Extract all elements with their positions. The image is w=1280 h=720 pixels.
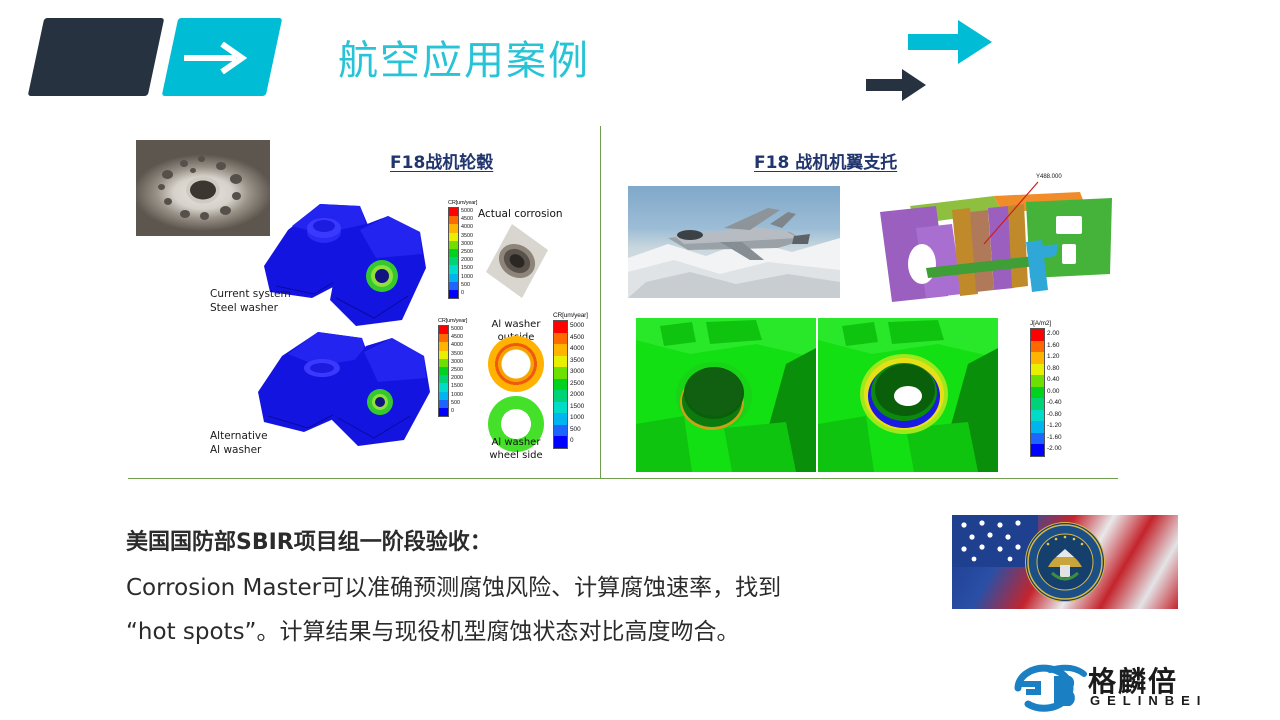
legend-value: 1000 bbox=[570, 412, 584, 424]
legend-value-list: 5000450040003500300025002000150010005000 bbox=[461, 207, 473, 299]
legend-value: 3500 bbox=[461, 232, 473, 240]
legend-value: -1.60 bbox=[1047, 432, 1062, 444]
arrow-right-icon bbox=[182, 42, 252, 74]
legend-value: 500 bbox=[451, 399, 463, 407]
label-washer-wheel-line2: wheel side bbox=[471, 449, 561, 462]
body-line-2: “hot spots”。计算结果与现役机型腐蚀状态对比高度吻合。 bbox=[126, 612, 739, 646]
annotation-leader-line bbox=[866, 178, 1116, 306]
legend-color-swatch bbox=[439, 375, 448, 383]
legend-value: 4500 bbox=[570, 332, 584, 344]
legend-value: 2000 bbox=[461, 256, 473, 264]
legend-color-swatch bbox=[439, 342, 448, 350]
label-alternative-line2: Al washer bbox=[210, 444, 268, 458]
fem-wheel-segment-4 bbox=[318, 336, 448, 452]
legend-value-list: 5000450040003500300025002000150010005000 bbox=[451, 325, 463, 417]
legend-value: 0.80 bbox=[1047, 363, 1062, 375]
legend-color-bars bbox=[1030, 328, 1045, 457]
legend-color-swatch bbox=[554, 413, 567, 425]
legend-value: 2500 bbox=[451, 366, 463, 374]
legend-value: 1000 bbox=[451, 391, 463, 399]
legend-value: -0.80 bbox=[1047, 409, 1062, 421]
label-washer-outside-line1: Al washer bbox=[471, 318, 561, 331]
label-current-system-line2: Steel washer bbox=[210, 302, 291, 316]
legend-value: -1.20 bbox=[1047, 420, 1062, 432]
legend-value: -2.00 bbox=[1047, 443, 1062, 455]
legend-value: 5000 bbox=[570, 320, 584, 332]
legend-color-swatch bbox=[1031, 410, 1044, 422]
annotation-label: Y488.000 bbox=[1036, 174, 1062, 180]
legend-color-swatch bbox=[554, 367, 567, 379]
legend-value: 1500 bbox=[451, 382, 463, 390]
fea-render-right bbox=[818, 318, 998, 477]
legend-color-swatch bbox=[554, 390, 567, 402]
corroded-hub-photo bbox=[136, 140, 270, 236]
legend-value: 0 bbox=[451, 407, 463, 415]
legend-color-swatch bbox=[1031, 375, 1044, 387]
legend-color-swatch bbox=[449, 265, 458, 273]
legend-value: 4000 bbox=[570, 343, 584, 355]
legend-value: 3000 bbox=[461, 240, 473, 248]
body-heading: 美国国防部SBIR项目组一阶段验收： bbox=[126, 524, 492, 556]
legend-color-swatch bbox=[554, 344, 567, 356]
legend-value: 2500 bbox=[570, 378, 584, 390]
washer-outside-contour bbox=[488, 336, 544, 392]
legend-value: 3000 bbox=[451, 358, 463, 366]
panel-divider bbox=[600, 126, 601, 478]
legend-value: 5000 bbox=[451, 325, 463, 333]
legend-color-bars bbox=[553, 320, 568, 449]
legend-value: 4500 bbox=[461, 215, 473, 223]
legend-color-swatch bbox=[1031, 329, 1044, 341]
legend-color-swatch bbox=[554, 436, 567, 448]
dod-seal-image bbox=[952, 515, 1178, 609]
decor-arrow-right-dark-icon bbox=[866, 66, 928, 104]
legend-color-bars bbox=[438, 325, 449, 417]
legend-value: 2500 bbox=[461, 248, 473, 256]
dod-seal-emblem bbox=[1025, 522, 1105, 602]
legend-color-swatch bbox=[439, 400, 448, 408]
legend-value: 3500 bbox=[570, 355, 584, 367]
legend-color-bars bbox=[448, 207, 459, 299]
actual-corrosion-photo bbox=[482, 222, 552, 300]
legend-value: 500 bbox=[570, 424, 584, 436]
color-legend-cr-top: CR[um/year] 5000450040003500300025002000… bbox=[448, 200, 477, 299]
fem-wheel-segment-2 bbox=[316, 214, 444, 334]
legend-color-swatch bbox=[1031, 387, 1044, 399]
legend-color-swatch bbox=[449, 233, 458, 241]
right-panel-title: F18 战机机翼支托 bbox=[754, 148, 897, 173]
legend-color-swatch bbox=[1031, 433, 1044, 445]
legend-color-swatch bbox=[554, 425, 567, 437]
legend-color-swatch bbox=[439, 367, 448, 375]
legend-color-swatch bbox=[449, 216, 458, 224]
legend-value: 3500 bbox=[451, 350, 463, 358]
label-washer-wheel-line1: Al washer bbox=[471, 436, 561, 449]
label-al-washer-wheel-side: Al washer wheel side bbox=[471, 436, 561, 462]
legend-color-swatch bbox=[449, 282, 458, 290]
legend-color-swatch bbox=[449, 249, 458, 257]
fea-render-left bbox=[636, 318, 816, 477]
label-alternative-line1: Alternative bbox=[210, 430, 268, 444]
legend-color-swatch bbox=[439, 326, 448, 334]
legend-value: 1000 bbox=[461, 273, 473, 281]
legend-color-swatch bbox=[1031, 398, 1044, 410]
legend-color-swatch bbox=[554, 321, 567, 333]
legend-value: 2000 bbox=[570, 389, 584, 401]
actual-corrosion-label: Actual corrosion bbox=[478, 208, 563, 220]
legend-value: 0.40 bbox=[1047, 374, 1062, 386]
legend-color-swatch bbox=[554, 333, 567, 345]
legend-color-swatch bbox=[439, 334, 448, 342]
legend-value: 4000 bbox=[451, 341, 463, 349]
legend-value: 1.60 bbox=[1047, 340, 1062, 352]
legend-value: 2000 bbox=[451, 374, 463, 382]
legend-title: J[A/m2] bbox=[1030, 320, 1062, 327]
page-title: 航空应用案例 bbox=[338, 28, 590, 86]
legend-color-swatch bbox=[554, 356, 567, 368]
legend-value-list: 2.001.601.200.800.400.00-0.40-0.80-1.20-… bbox=[1047, 328, 1062, 457]
legend-color-swatch bbox=[439, 351, 448, 359]
brand-logo-english: GELINBEI bbox=[1090, 693, 1207, 708]
legend-value: 1500 bbox=[570, 401, 584, 413]
legend-value: 4000 bbox=[461, 223, 473, 231]
legend-value: 500 bbox=[461, 281, 473, 289]
label-current-system-line1: Current system bbox=[210, 288, 291, 302]
legend-value: 1500 bbox=[461, 264, 473, 272]
legend-color-swatch bbox=[449, 208, 458, 216]
legend-color-swatch bbox=[1031, 341, 1044, 353]
legend-color-swatch bbox=[1031, 444, 1044, 456]
left-panel-title: F18战机轮毂 bbox=[390, 148, 493, 173]
legend-color-swatch bbox=[449, 274, 458, 282]
legend-title: CR[um/year] bbox=[553, 312, 588, 319]
color-legend-cr-right: CR[um/year] 5000450040003500300025002000… bbox=[553, 312, 588, 449]
legend-color-swatch bbox=[439, 359, 448, 367]
legend-value: 0 bbox=[461, 289, 473, 297]
color-legend-current-density: J[A/m2] 2.001.601.200.800.400.00-0.40-0.… bbox=[1030, 320, 1062, 457]
legend-value: 5000 bbox=[461, 207, 473, 215]
legend-value: 3000 bbox=[570, 366, 584, 378]
legend-value: 0.00 bbox=[1047, 386, 1062, 398]
legend-title: CR[um/year] bbox=[438, 318, 467, 324]
decor-arrow-right-cyan-icon bbox=[908, 16, 994, 68]
legend-color-swatch bbox=[449, 224, 458, 232]
legend-color-swatch bbox=[1031, 421, 1044, 433]
legend-value: 1.20 bbox=[1047, 351, 1062, 363]
legend-value: 4500 bbox=[451, 333, 463, 341]
legend-value-list: 5000450040003500300025002000150010005000 bbox=[570, 320, 584, 449]
legend-color-swatch bbox=[449, 241, 458, 249]
label-current-system: Current system Steel washer bbox=[210, 288, 291, 316]
legend-value: 2.00 bbox=[1047, 328, 1062, 340]
legend-color-swatch bbox=[439, 383, 448, 391]
f18-jet-photo bbox=[628, 186, 840, 298]
legend-color-swatch bbox=[1031, 364, 1044, 376]
color-legend-cr-left: CR[um/year] 5000450040003500300025002000… bbox=[438, 318, 467, 417]
slide-root: 航空应用案例 F18战机轮毂 bbox=[0, 0, 1280, 720]
legend-title: CR[um/year] bbox=[448, 200, 477, 206]
body-line-1: Corrosion Master可以准确预测腐蚀风险、计算腐蚀速率，找到 bbox=[126, 568, 781, 602]
legend-color-swatch bbox=[449, 257, 458, 265]
legend-color-swatch bbox=[554, 379, 567, 391]
legend-value: -0.40 bbox=[1047, 397, 1062, 409]
legend-color-swatch bbox=[439, 408, 448, 416]
legend-value: 0 bbox=[570, 435, 584, 447]
header-badge-dark bbox=[28, 18, 165, 96]
legend-color-swatch bbox=[449, 290, 458, 298]
legend-color-swatch bbox=[1031, 352, 1044, 364]
legend-color-swatch bbox=[554, 402, 567, 414]
legend-color-swatch bbox=[439, 392, 448, 400]
label-alternative-washer: Alternative Al washer bbox=[210, 430, 268, 458]
